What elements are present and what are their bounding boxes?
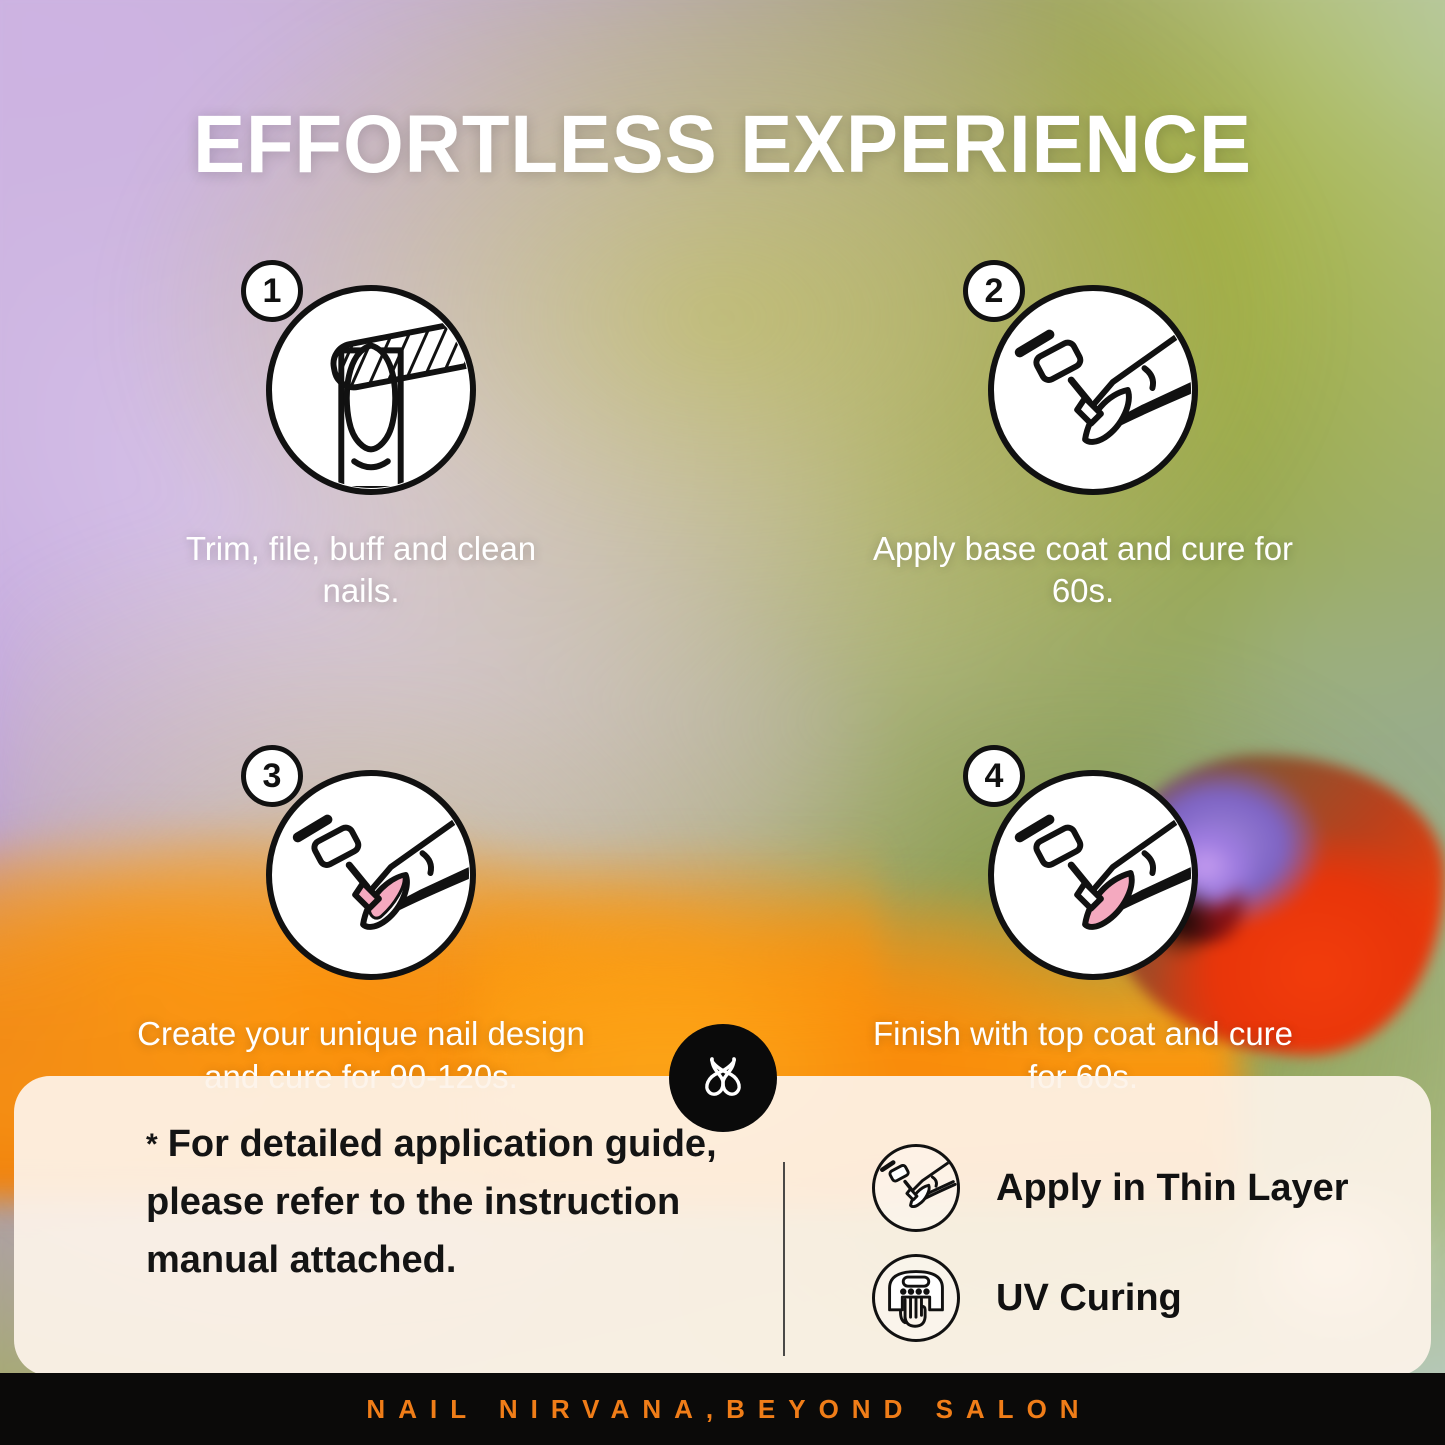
step-2-caption: Apply base coat and cure for 60s. xyxy=(868,528,1298,612)
step-card-2: 2 xyxy=(722,255,1444,612)
feature-item-thin-layer: Apply in Thin Layer xyxy=(872,1138,1349,1238)
step-card-3: 3 xyxy=(0,740,722,1097)
step-number-badge-3: 3 xyxy=(241,745,303,807)
steps-section: 1 xyxy=(0,255,1445,1098)
step-number-badge-4: 4 xyxy=(963,745,1025,807)
step-3-icon-wrap: 3 xyxy=(231,740,491,995)
page-title: EFFORTLESS EXPERIENCE xyxy=(36,98,1409,192)
step-number-badge-2: 2 xyxy=(963,260,1025,322)
brand-monogram-icon xyxy=(669,1024,777,1132)
instruction-note-text: For detailed application guide, please r… xyxy=(146,1123,717,1281)
feature-item-uv-curing: UV Curing xyxy=(872,1248,1349,1348)
panel-divider xyxy=(783,1162,785,1356)
poster-root: EFFORTLESS EXPERIENCE 1 xyxy=(0,0,1445,1445)
step-number-badge-1: 1 xyxy=(241,260,303,322)
footer-bar: NAIL NIRVANA,BEYOND SALON xyxy=(0,1373,1445,1445)
instruction-note: *For detailed application guide, please … xyxy=(146,1116,756,1289)
step-card-1: 1 xyxy=(0,255,722,612)
steps-row-1: 1 xyxy=(0,255,1445,612)
step-4-icon-wrap: 4 xyxy=(953,740,1213,995)
top-coat-brush-icon xyxy=(988,770,1198,980)
features-list: Apply in Thin Layer xyxy=(872,1138,1349,1358)
step-card-4: 4 xyxy=(722,740,1444,1097)
feature-label-thin-layer: Apply in Thin Layer xyxy=(996,1167,1349,1210)
asterisk-marker: * xyxy=(146,1128,158,1161)
nail-design-brush-icon xyxy=(266,770,476,980)
footer-brand-text: NAIL NIRVANA,BEYOND SALON xyxy=(353,1394,1091,1425)
step-1-icon-wrap: 1 xyxy=(231,255,491,510)
base-coat-brush-icon xyxy=(988,285,1198,495)
thin-layer-brush-icon xyxy=(872,1144,960,1232)
step-1-caption: Trim, file, buff and clean nails. xyxy=(146,528,576,612)
nail-file-icon xyxy=(266,285,476,495)
step-2-icon-wrap: 2 xyxy=(953,255,1213,510)
uv-lamp-icon xyxy=(872,1254,960,1342)
feature-label-uv-curing: UV Curing xyxy=(996,1277,1182,1320)
